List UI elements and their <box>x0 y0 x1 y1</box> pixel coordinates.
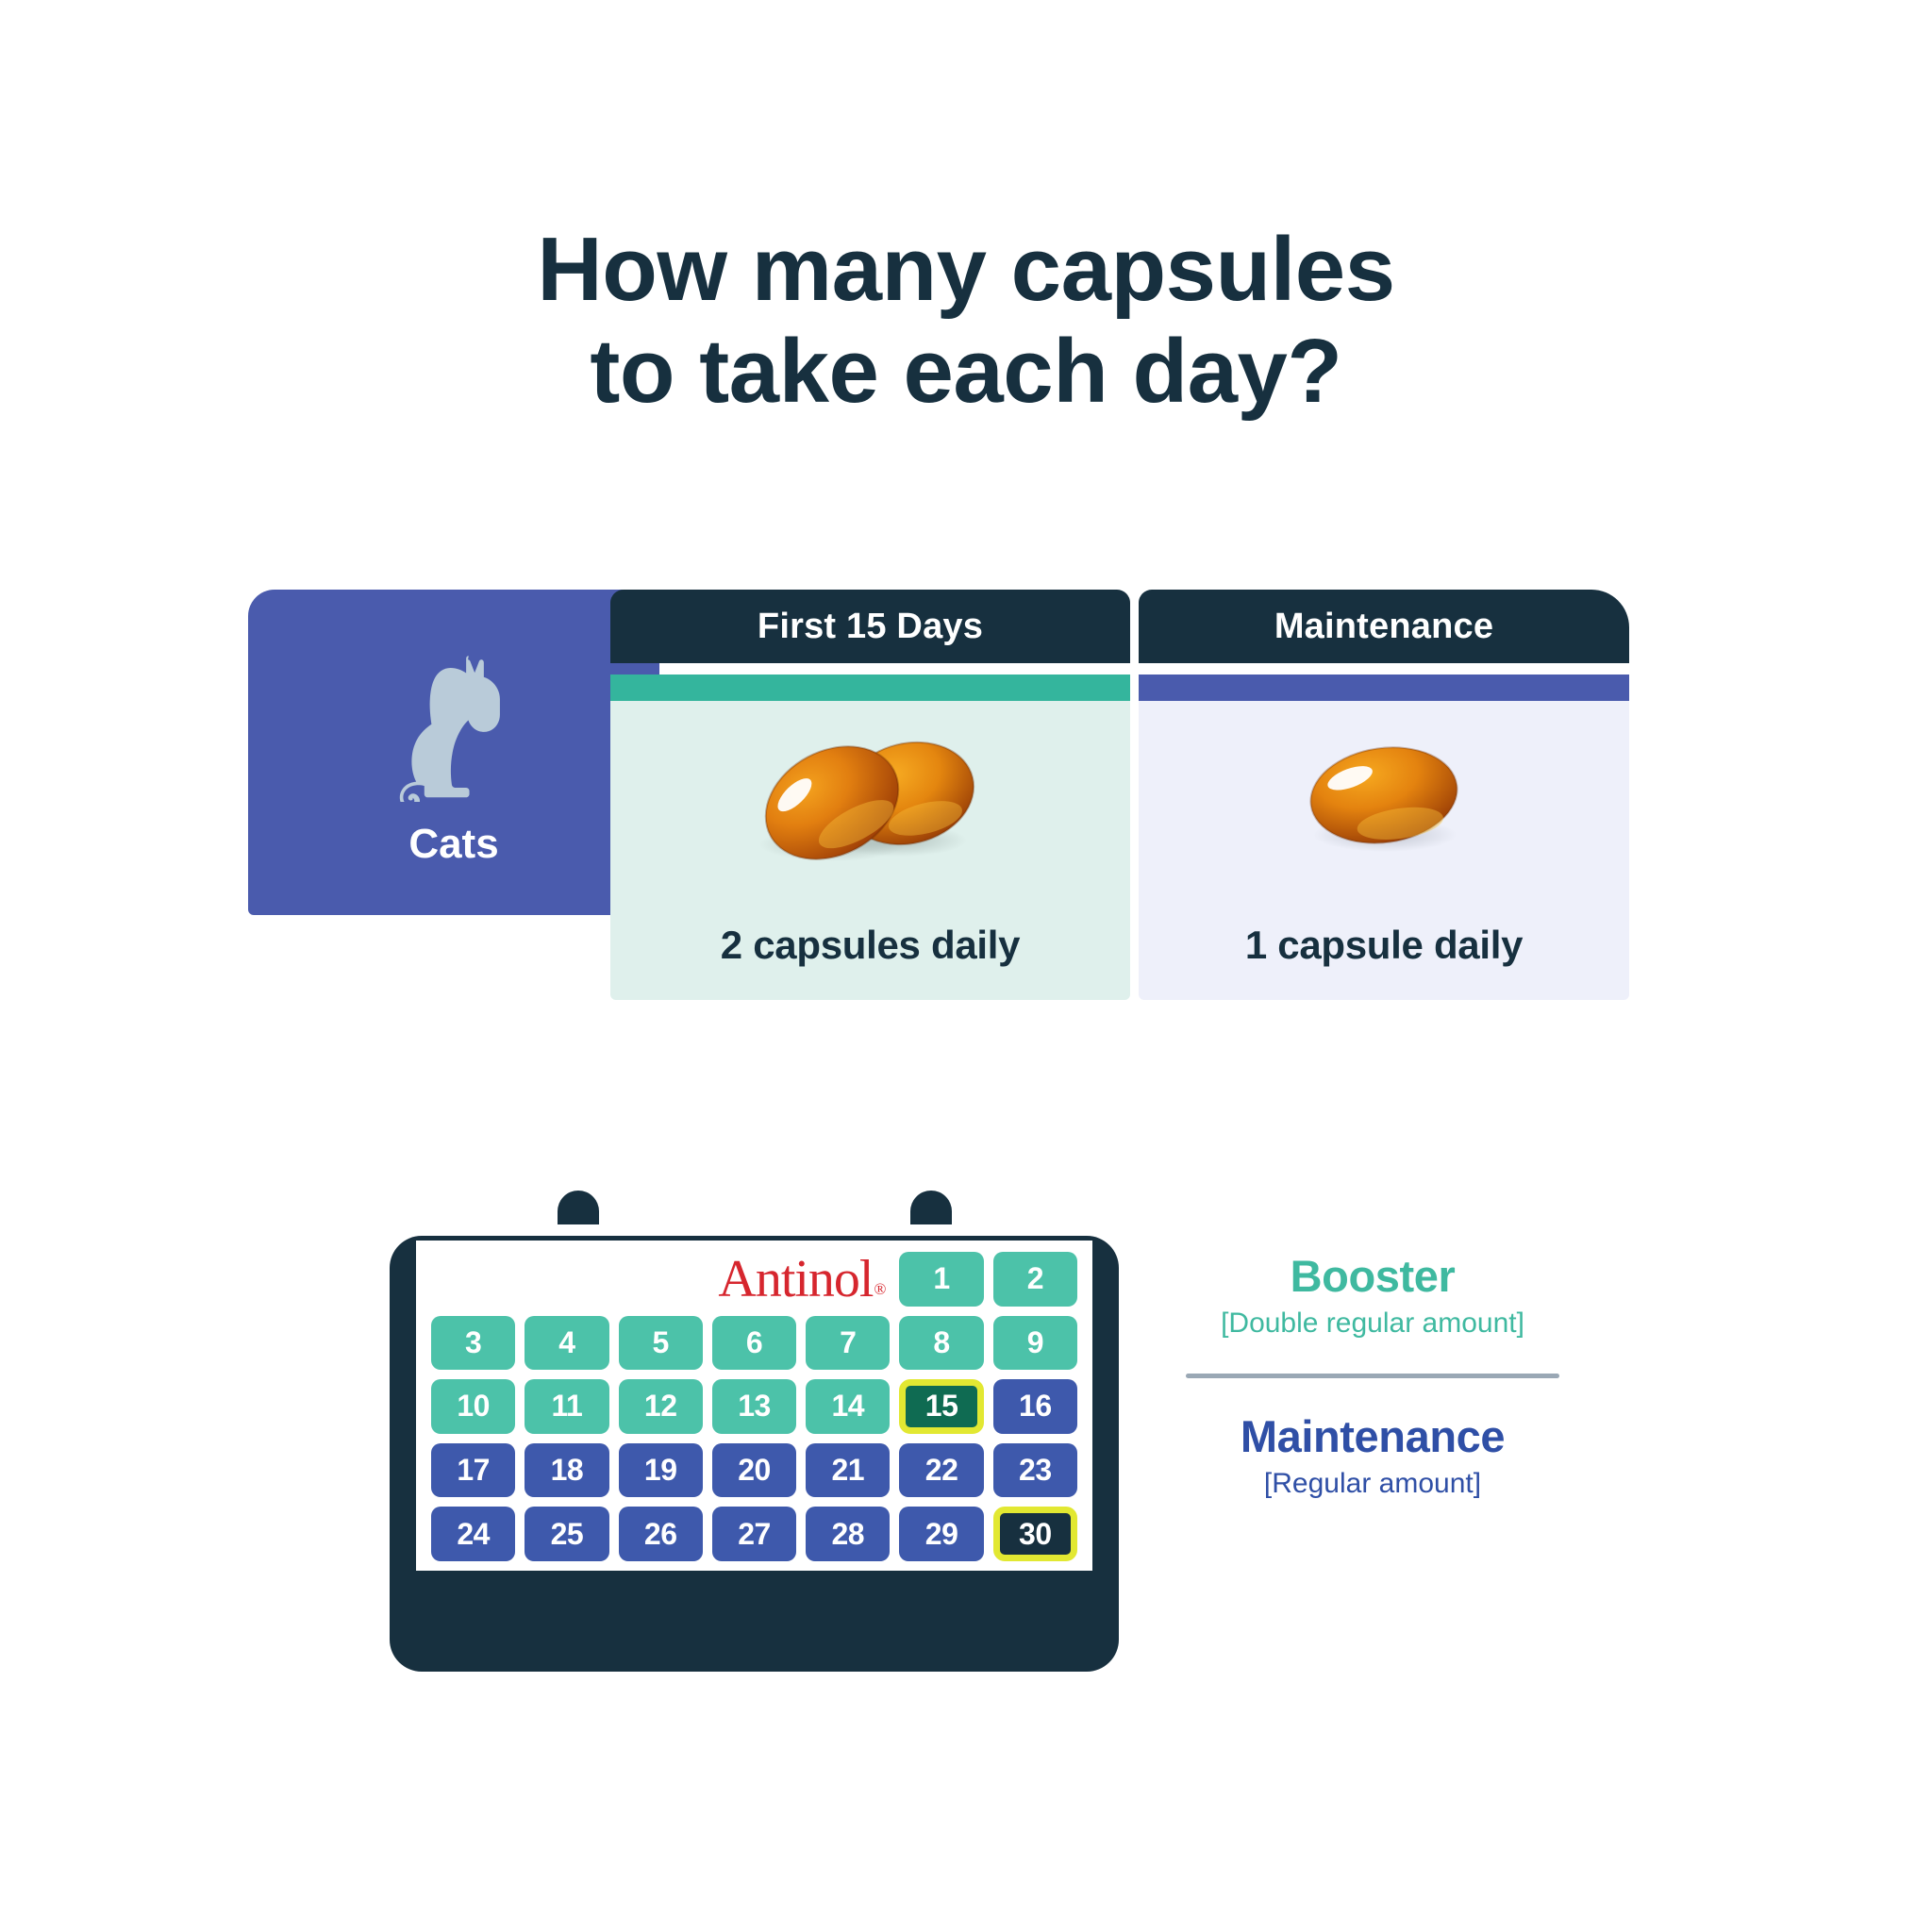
infographic-root: How many capsules to take each day? Firs… <box>0 0 1932 1932</box>
calendar-day-15[interactable]: 15 <box>899 1379 983 1434</box>
calendar-day-label: 13 <box>738 1389 771 1424</box>
calendar-day-7[interactable]: 7 <box>806 1316 890 1371</box>
legend-booster-title: Booster <box>1184 1250 1561 1302</box>
calendar-day-label: 22 <box>925 1453 958 1488</box>
column-header-first-15-days-label: First 15 Days <box>758 607 983 647</box>
calendar-day-label: 9 <box>1027 1325 1043 1360</box>
animal-label: Cats <box>408 821 498 868</box>
one-capsule-icon <box>1266 729 1502 871</box>
brand-logo-text: Antinol <box>718 1250 873 1308</box>
legend-item-maintenance: Maintenance [Regular amount] <box>1184 1410 1561 1500</box>
page-title-line-1: How many capsules <box>0 219 1932 321</box>
calendar-day-10[interactable]: 10 <box>431 1379 515 1434</box>
calendar-day-label: 10 <box>457 1389 490 1424</box>
calendar-day-label: 20 <box>738 1453 771 1488</box>
legend-booster-subtitle: [Double regular amount] <box>1184 1307 1561 1340</box>
calendar-day-20[interactable]: 20 <box>712 1443 796 1498</box>
calendar-day-label: 14 <box>831 1389 864 1424</box>
calendar-day-label: 18 <box>551 1453 584 1488</box>
legend-maintenance-title: Maintenance <box>1184 1410 1561 1462</box>
calendar-day-label: 29 <box>925 1517 958 1552</box>
calendar-day-16[interactable]: 16 <box>993 1379 1077 1434</box>
calendar-day-label: 30 <box>1019 1517 1052 1552</box>
calendar-day-label: 16 <box>1019 1389 1052 1424</box>
calendar-day-19[interactable]: 19 <box>619 1443 703 1498</box>
accent-bar-maintenance <box>1139 675 1629 701</box>
calendar-day-24[interactable]: 24 <box>431 1507 515 1561</box>
calendar-day-13[interactable]: 13 <box>712 1379 796 1434</box>
calendar-day-14[interactable]: 14 <box>806 1379 890 1434</box>
calendar-sheet: Antinol® 1234567891011121314151617181920… <box>416 1241 1092 1571</box>
animal-cell-cats: Cats <box>248 590 659 915</box>
calendar-day-label: 8 <box>933 1325 949 1360</box>
accent-bar-first-15-days <box>610 675 1130 701</box>
calendar-day-9[interactable]: 9 <box>993 1316 1077 1371</box>
dosage-caption-maintenance: 1 capsule daily <box>1245 923 1523 968</box>
calendar-day-11[interactable]: 11 <box>525 1379 608 1434</box>
calendar-day-label: 17 <box>457 1453 490 1488</box>
page-title: How many capsules to take each day? <box>0 219 1932 424</box>
brand-logo: Antinol® <box>431 1252 890 1307</box>
calendar-day-label: 15 <box>925 1389 958 1424</box>
calendar-day-27[interactable]: 27 <box>712 1507 796 1561</box>
two-capsules-icon <box>734 729 1008 871</box>
calendar-day-18[interactable]: 18 <box>525 1443 608 1498</box>
dosage-cell-maintenance: 1 capsule daily <box>1139 675 1629 1000</box>
calendar-day-29[interactable]: 29 <box>899 1507 983 1561</box>
calendar-day-23[interactable]: 23 <box>993 1443 1077 1498</box>
calendar-day-label: 11 <box>552 1389 583 1424</box>
legend-divider <box>1186 1374 1559 1378</box>
calendar-day-6[interactable]: 6 <box>712 1316 796 1371</box>
calendar-day-label: 21 <box>831 1453 864 1488</box>
brand-registered-mark: ® <box>874 1280 886 1298</box>
calendar-day-28[interactable]: 28 <box>806 1507 890 1561</box>
column-header-maintenance: Maintenance <box>1139 590 1629 663</box>
calendar-day-25[interactable]: 25 <box>525 1507 608 1561</box>
legend-item-booster: Booster [Double regular amount] <box>1184 1250 1561 1340</box>
legend-maintenance-subtitle: [Regular amount] <box>1184 1468 1561 1500</box>
calendar-day-label: 7 <box>840 1325 856 1360</box>
calendar-legend: Booster [Double regular amount] Maintena… <box>1184 1250 1561 1500</box>
calendar-day-5[interactable]: 5 <box>619 1316 703 1371</box>
dosing-calendar: Antinol® 1234567891011121314151617181920… <box>390 1191 1119 1672</box>
calendar-day-1[interactable]: 1 <box>899 1252 983 1307</box>
calendar-day-label: 24 <box>457 1517 490 1552</box>
calendar-day-3[interactable]: 3 <box>431 1316 515 1371</box>
calendar-day-8[interactable]: 8 <box>899 1316 983 1371</box>
calendar-day-label: 2 <box>1027 1261 1043 1296</box>
dosage-cell-first-15-days: 2 capsules daily <box>610 675 1130 1000</box>
calendar-day-21[interactable]: 21 <box>806 1443 890 1498</box>
calendar-day-2[interactable]: 2 <box>993 1252 1077 1307</box>
calendar-day-label: 28 <box>831 1517 864 1552</box>
calendar-day-label: 1 <box>933 1261 949 1296</box>
page-title-line-2: to take each day? <box>0 321 1932 423</box>
calendar-day-label: 6 <box>746 1325 762 1360</box>
column-header-first-15-days: First 15 Days <box>610 590 1130 663</box>
calendar-day-30[interactable]: 30 <box>993 1507 1077 1561</box>
calendar-day-label: 5 <box>653 1325 669 1360</box>
calendar-day-22[interactable]: 22 <box>899 1443 983 1498</box>
calendar-day-label: 27 <box>738 1517 771 1552</box>
cat-silhouette-icon <box>391 651 516 802</box>
calendar-day-label: 25 <box>551 1517 584 1552</box>
calendar-day-label: 12 <box>644 1389 677 1424</box>
calendar-day-label: 4 <box>558 1325 575 1360</box>
dosage-caption-first-15-days: 2 capsules daily <box>721 923 1020 968</box>
calendar-day-grid: Antinol® 1234567891011121314151617181920… <box>431 1252 1077 1561</box>
calendar-day-label: 19 <box>644 1453 677 1488</box>
calendar-day-4[interactable]: 4 <box>525 1316 608 1371</box>
column-header-maintenance-label: Maintenance <box>1274 607 1493 647</box>
calendar-day-26[interactable]: 26 <box>619 1507 703 1561</box>
dosage-table: First 15 Days Maintenance Cats <box>248 590 1687 1000</box>
calendar-day-label: 23 <box>1019 1453 1052 1488</box>
calendar-day-12[interactable]: 12 <box>619 1379 703 1434</box>
calendar-day-17[interactable]: 17 <box>431 1443 515 1498</box>
calendar-day-label: 26 <box>644 1517 677 1552</box>
calendar-day-label: 3 <box>465 1325 481 1360</box>
